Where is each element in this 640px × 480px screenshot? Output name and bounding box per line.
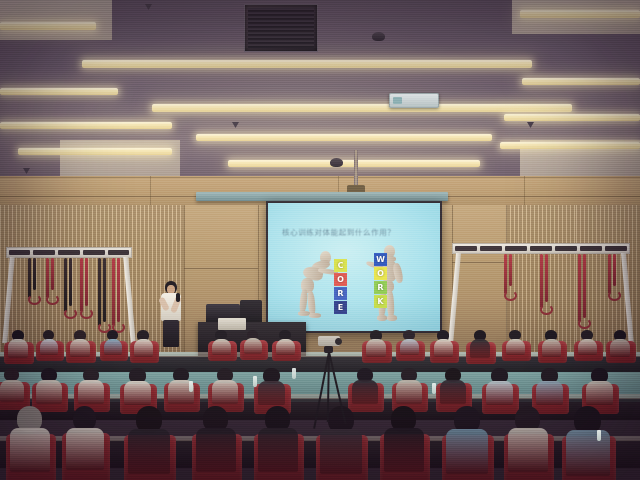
audience-member: [258, 368, 285, 403]
suspension-strap: [33, 258, 36, 290]
audience-torso: [258, 428, 298, 471]
water-bottle: [432, 383, 436, 394]
rack-slot: [33, 250, 55, 255]
ceiling-light-strip: [196, 134, 492, 141]
laptop-on-podium: [218, 318, 246, 330]
suspension-strap: [103, 258, 106, 322]
audience-member: [78, 368, 104, 402]
suspension-strap-loop: [46, 294, 59, 305]
audience-torso: [0, 380, 24, 402]
audience-torso: [384, 428, 424, 471]
audience-torso: [66, 428, 104, 470]
audience-member: [70, 330, 90, 355]
ceiling-light-strip: [152, 104, 572, 112]
audience-torso: [124, 381, 151, 406]
audience-member: [542, 330, 561, 355]
audience-member: [134, 330, 153, 355]
audience-member: [36, 368, 62, 402]
audience-torso: [506, 339, 525, 356]
microphone-icon: [176, 293, 180, 302]
audience-member: [536, 368, 563, 403]
audience-member: [396, 368, 422, 402]
ceiling-speaker-icon: [372, 32, 385, 41]
audience-member: [128, 406, 170, 470]
audience-torso: [10, 428, 50, 471]
letter-block: E: [334, 301, 347, 314]
audience-member: [384, 406, 424, 468]
audience-torso: [486, 381, 513, 406]
audience-member: [40, 330, 58, 354]
audience-member: [486, 368, 513, 403]
letter-block: R: [374, 281, 387, 294]
audience-member: [104, 330, 122, 354]
suspension-strap: [112, 258, 115, 326]
rack-slot: [480, 246, 502, 251]
audience-member: [352, 368, 378, 402]
ceiling-light-strip: [522, 78, 640, 85]
suspension-strap: [509, 254, 512, 286]
screen-roller-housing: [196, 192, 448, 201]
audience-torso: [434, 339, 453, 357]
suspension-strap: [85, 258, 88, 306]
letter-block: W: [374, 253, 387, 266]
block-stack-work: WORK: [374, 253, 387, 308]
ceiling-panel: [0, 0, 112, 40]
audience-torso: [470, 339, 490, 357]
suspension-strap: [504, 254, 507, 294]
rack-slot: [58, 250, 80, 255]
audience-member: [10, 406, 50, 468]
wall-seam: [184, 268, 258, 269]
suspension-strap: [613, 254, 616, 286]
suspension-strap-loop: [64, 308, 77, 319]
audience-torso: [276, 339, 295, 356]
ceiling-light-strip: [520, 10, 640, 18]
letter-block: O: [334, 273, 347, 286]
water-bottle: [253, 376, 257, 387]
suspension-strap: [80, 258, 83, 312]
audience-member: [8, 330, 28, 356]
audience-torso: [508, 428, 548, 471]
suspension-strap: [64, 258, 67, 312]
projector-icon: [389, 93, 439, 108]
audience-torso: [566, 430, 610, 476]
audience-member: [610, 330, 630, 355]
suspension-strap: [69, 258, 72, 306]
vent-grill-icon: [248, 8, 314, 48]
ceiling-speaker-icon: [330, 158, 343, 167]
rack-slot: [83, 250, 105, 255]
audience-member: [586, 368, 613, 403]
audience-torso: [244, 338, 262, 354]
suspension-strap-loop: [80, 308, 93, 319]
camera-lens-icon: [335, 338, 342, 345]
suspension-strap: [46, 258, 49, 298]
audience-member: [566, 406, 610, 472]
audience-torso: [212, 339, 231, 356]
ceiling-light-strip: [500, 142, 640, 149]
audience-member: [400, 330, 419, 354]
audience-torso: [258, 381, 285, 406]
audience-member: [578, 330, 597, 354]
projection-screen: 核心训练对体能起到什么作用？ CORE WORK: [268, 203, 440, 331]
ceiling-light-strip: [0, 88, 118, 95]
audience-member: [440, 368, 466, 402]
ceiling-light-strip: [18, 148, 172, 155]
audience-torso: [446, 429, 488, 474]
suspension-rack-left: [6, 247, 132, 343]
block-stack-core: CORE: [334, 259, 347, 314]
suspension-strap: [608, 254, 611, 294]
suspension-strap: [540, 254, 543, 308]
audience-member: [0, 368, 24, 400]
letter-block: C: [334, 259, 347, 272]
audience-seating: [0, 330, 640, 480]
audience-torso: [134, 339, 153, 357]
suspension-strap: [98, 258, 101, 326]
audience-member: [506, 330, 525, 354]
audience-member: [446, 406, 488, 470]
rack-slot: [455, 246, 477, 251]
audience-torso: [212, 380, 238, 404]
audience-torso: [610, 339, 630, 357]
audience-torso: [366, 339, 386, 357]
suspension-strap-loop: [540, 304, 553, 315]
audience-torso: [542, 339, 561, 357]
suspension-strap: [51, 258, 54, 290]
ceiling-light-strip: [0, 122, 172, 129]
audience-member: [212, 330, 231, 354]
letter-block: O: [374, 267, 387, 280]
audience-torso: [536, 381, 563, 406]
audience-member: [276, 330, 295, 354]
audience-member: [434, 330, 453, 355]
audience-member: [258, 406, 298, 468]
suspension-strap-loop: [28, 294, 41, 305]
rack-slot: [580, 246, 602, 251]
ceiling-light-strip: [504, 114, 640, 121]
suspension-strap: [117, 258, 120, 322]
rack-crossbar: [452, 243, 630, 254]
rack-slot: [9, 250, 31, 255]
audience-torso: [40, 339, 58, 356]
audience-torso: [396, 380, 422, 404]
ceiling-light-strip: [82, 60, 532, 68]
rack-slot: [555, 246, 577, 251]
ceiling-light-strip: [0, 22, 96, 30]
audience-torso: [70, 339, 90, 357]
rack-slot: [505, 246, 527, 251]
suspension-strap-loop: [608, 290, 621, 301]
suspension-strap: [578, 254, 581, 322]
audience-member: [66, 406, 104, 466]
ceiling-air-vent-large: [244, 4, 318, 52]
water-bottle: [597, 430, 601, 441]
audience-member: [508, 406, 548, 468]
slide-title-text: 核心训练对体能起到什么作用？: [282, 227, 432, 238]
rack-slot: [108, 250, 130, 255]
audience-torso: [36, 380, 62, 404]
rack-crossbar: [6, 247, 132, 258]
suspension-strap-loop: [504, 290, 517, 301]
projector-lens-icon: [393, 97, 402, 104]
audience-torso: [352, 380, 378, 404]
rack-slot: [530, 246, 552, 251]
audience-torso: [320, 429, 362, 474]
suspension-strap: [28, 258, 31, 298]
water-bottle: [292, 368, 296, 379]
audience-torso: [578, 339, 597, 356]
water-bottle: [189, 381, 193, 392]
audience-torso: [128, 429, 170, 474]
letter-block: K: [374, 295, 387, 308]
suspension-strap: [583, 254, 586, 318]
letter-block: R: [334, 287, 347, 300]
audience-torso: [78, 380, 104, 404]
audience-member: [212, 368, 238, 402]
suspension-strap: [545, 254, 548, 302]
audience-torso: [440, 380, 466, 404]
rack-slot: [605, 246, 627, 251]
audience-torso: [8, 339, 28, 357]
audience-member: [244, 330, 262, 353]
audience-torso: [586, 381, 613, 406]
audience-torso: [196, 428, 236, 471]
audience-member: [470, 330, 490, 356]
suspension-strap-loop: [578, 318, 591, 329]
audience-member: [124, 368, 151, 403]
seminar-room-photo: 核心训练对体能起到什么作用？ CORE WORK: [0, 0, 640, 480]
audience-member: [366, 330, 386, 355]
audience-torso: [400, 339, 419, 356]
audience-torso: [104, 339, 122, 356]
audience-member: [196, 406, 236, 468]
